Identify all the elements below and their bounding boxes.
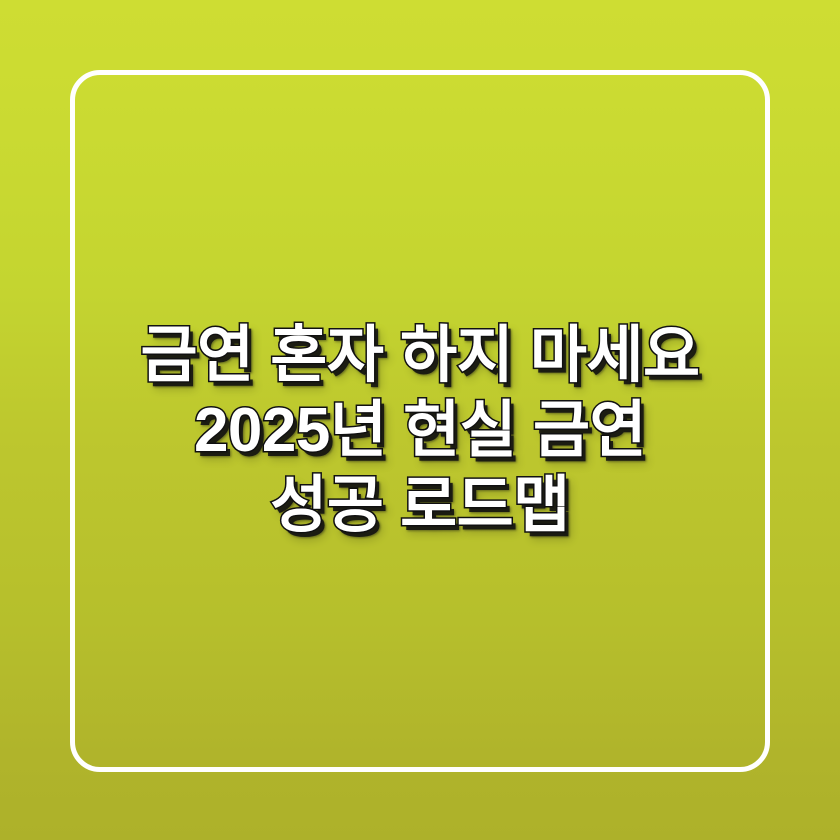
page-title: 금연 혼자 하지 마세요 2025년 현실 금연 성공 로드맵 [0, 318, 840, 543]
title-line-3: 성공 로드맵 [0, 468, 840, 543]
thumbnail-card: 금연 혼자 하지 마세요 2025년 현실 금연 성공 로드맵 [0, 0, 840, 840]
title-line-2: 2025년 현실 금연 [0, 393, 840, 468]
title-line-1: 금연 혼자 하지 마세요 [0, 318, 840, 393]
